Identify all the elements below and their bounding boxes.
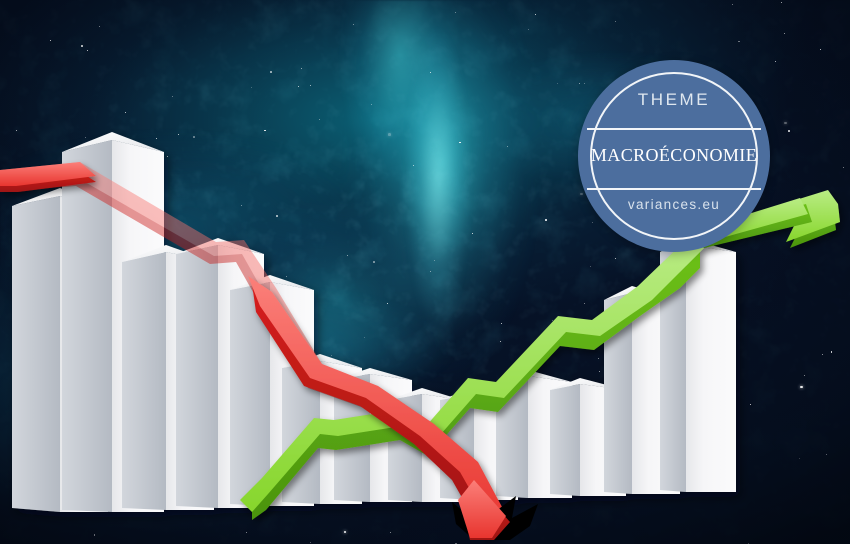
badge-site-label: variances.eu	[578, 197, 770, 212]
badge-theme-title: Macroéconomie	[578, 140, 770, 168]
theme-badge[interactable]: THEME Macroéconomie variances.eu	[578, 60, 770, 252]
badge-rule-bottom	[587, 188, 761, 190]
badge-rule-top	[587, 128, 761, 130]
badge-eyebrow-label: THEME	[578, 90, 770, 110]
illustration-canvas: THEME Macroéconomie variances.eu	[0, 0, 850, 544]
